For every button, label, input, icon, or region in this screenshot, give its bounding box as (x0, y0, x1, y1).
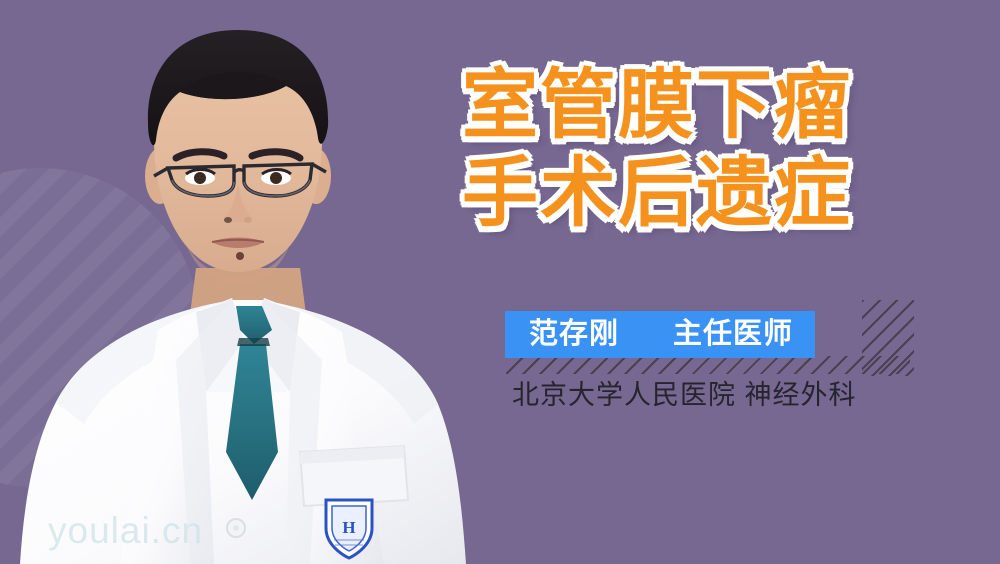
site-watermark: youlai.cn (48, 512, 203, 549)
video-title: 室管膜下瘤 手术后遗症 (462, 62, 922, 238)
doctor-affiliation: 北京大学人民医院 神经外科 (512, 382, 857, 409)
title-line-2: 手术后遗症 (462, 150, 922, 238)
doctor-name: 范存刚 (529, 320, 619, 349)
title-line-1: 室管膜下瘤 (462, 62, 922, 150)
doctor-rank: 主任医师 (673, 320, 793, 349)
video-thumbnail-card: H (0, 0, 1000, 564)
doctor-name-badge: 范存刚 主任医师 (505, 311, 815, 358)
svg-text:H: H (342, 518, 355, 537)
diagonal-hatch-under-badge-decoration (506, 356, 910, 374)
doctor-portrait-photo: H (0, 0, 470, 564)
